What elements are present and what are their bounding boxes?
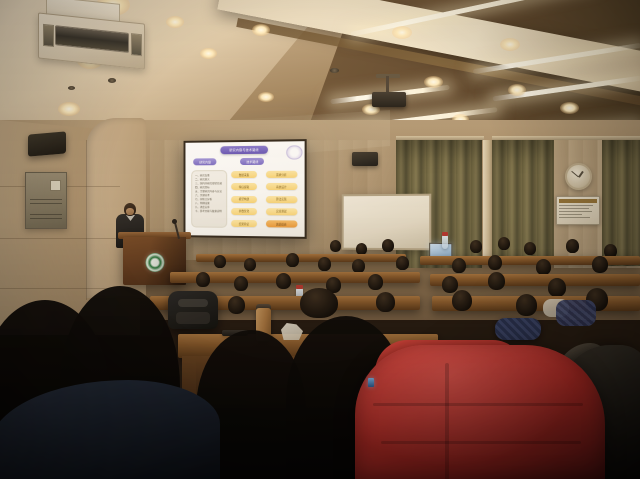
- list-item: 五、主要研究内容与方法: [195, 190, 223, 193]
- poster-text-line: [559, 208, 589, 209]
- panel-line: [30, 199, 62, 200]
- wall-clock-icon: [565, 163, 592, 190]
- slide-column-header-a: 研究内容: [194, 158, 217, 166]
- smartphone[interactable]: [368, 378, 374, 387]
- list-item: 十、参考文献与致谢说明: [195, 210, 223, 214]
- backpack: [168, 291, 218, 329]
- attendee-head: [330, 240, 341, 252]
- list-item: 二、研究意义: [195, 178, 223, 181]
- attendee-head: [524, 242, 536, 255]
- list-item: 四、研究目标: [195, 186, 223, 189]
- slide-pill: 结果验证: [231, 220, 257, 227]
- poster-text-line: [559, 205, 593, 206]
- desk-row: [196, 254, 406, 262]
- institution-logo-icon: [287, 145, 303, 160]
- attendee-head: [516, 294, 537, 316]
- slide-pill: 数据采集: [231, 171, 257, 178]
- smoke-detector-icon: [330, 68, 339, 73]
- attendee-head: [286, 253, 299, 267]
- downlight: [166, 16, 184, 28]
- attendee-head: [214, 255, 226, 268]
- attendee-head: [276, 273, 291, 289]
- downlight: [252, 24, 270, 36]
- attendee-head: [566, 239, 579, 253]
- electrical-panel: [25, 172, 67, 229]
- backpack-strap: [178, 299, 208, 307]
- slide-column-header-b: 技术路线: [240, 158, 264, 166]
- smoke-detector-icon: [108, 78, 116, 83]
- poster-text-line: [559, 214, 582, 215]
- list-item: 八、预期成果: [195, 202, 223, 205]
- tissue-paper: [281, 323, 303, 340]
- list-item: 七、创新点分析: [195, 198, 223, 201]
- projection-screen: 研究内容与技术路线 研究内容 技术路线 一、研究背景 二、研究意义 三、国内外研…: [184, 139, 307, 239]
- wall-speaker-icon: [28, 131, 66, 156]
- poster-text-line: [559, 217, 590, 218]
- smoke-detector-icon: [68, 86, 75, 90]
- slide-pill: 特征提取: [231, 183, 257, 190]
- poster-text-line: [559, 211, 592, 212]
- water-bottle: [442, 235, 448, 249]
- attendee-head: [452, 258, 466, 273]
- bottle-cap: [296, 285, 303, 289]
- attendee-head: [234, 276, 248, 291]
- slide-pill: 系统设计: [266, 183, 298, 190]
- list-item: 九、进度安排: [195, 206, 223, 209]
- list-item: 六、关键技术: [195, 194, 223, 197]
- wall-seam: [0, 238, 116, 239]
- wall-speaker-icon: [352, 152, 378, 166]
- attendee-head: [382, 239, 394, 252]
- attendee-head: [536, 259, 551, 275]
- downlight: [258, 92, 274, 102]
- knit-scarf: [495, 318, 541, 340]
- slide-pill-highlight: 总结结论: [266, 220, 298, 227]
- downlight: [392, 26, 412, 39]
- downlight: [424, 76, 443, 88]
- knit-scarf: [556, 300, 596, 326]
- slide-pill: 算法实现: [266, 196, 298, 203]
- jacket-seam: [381, 441, 581, 444]
- ac-vent: [131, 33, 142, 56]
- attendee-head: [488, 272, 505, 290]
- projector-icon: [372, 92, 406, 107]
- list-item: 一、研究背景: [195, 174, 223, 177]
- backpack-pocket: [176, 312, 210, 324]
- attendee-head: [396, 256, 409, 270]
- bottle-cap: [442, 232, 448, 236]
- wall-seam: [86, 140, 87, 300]
- panel-line: [30, 214, 62, 215]
- presentation-slide: 研究内容与技术路线 研究内容 技术路线 一、研究背景 二、研究意义 三、国内外研…: [185, 141, 304, 237]
- panel-line: [30, 203, 62, 204]
- wall-notice-poster: [556, 196, 600, 225]
- attendee-head: [452, 290, 472, 311]
- attendee-head: [488, 255, 502, 270]
- list-item: 三、国内外研究现状综述: [195, 182, 223, 185]
- downlight: [58, 102, 80, 116]
- downlight: [500, 38, 520, 51]
- presenter-face: [126, 208, 134, 215]
- jacket-seam: [445, 363, 449, 479]
- downlight: [508, 84, 526, 96]
- attendee-head: [470, 240, 482, 253]
- attendee-head: [318, 257, 331, 271]
- attendee-head: [196, 272, 210, 287]
- poster-header: [559, 199, 597, 203]
- panel-line: [30, 218, 62, 219]
- attendee-head: [368, 274, 383, 290]
- wall-pillar: [483, 140, 492, 265]
- attendee-head: [498, 237, 510, 250]
- downlight: [200, 48, 217, 59]
- slide-pill: 模型构建: [231, 196, 257, 203]
- attendee-head: [592, 256, 608, 273]
- downlight: [560, 102, 579, 114]
- red-puffer-jacket: [355, 345, 605, 479]
- ac-grille: [55, 25, 129, 53]
- attendee-head: [244, 258, 256, 271]
- attendee-head: [352, 259, 365, 273]
- microphone-icon: [172, 219, 177, 224]
- attendee-head: [376, 292, 395, 312]
- ac-vent: [43, 24, 54, 47]
- slide-pill: 参数优化: [231, 208, 257, 215]
- panel-label: [50, 180, 61, 191]
- lecture-hall-photo: 研究内容与技术路线 研究内容 技术路线 一、研究背景 二、研究意义 三、国内外研…: [0, 0, 640, 479]
- slide-pill: 实验测试: [266, 208, 298, 215]
- slide-title: 研究内容与技术路线: [220, 145, 268, 154]
- wall-seam: [0, 288, 110, 289]
- attendee-head: [228, 296, 245, 314]
- attendee-head: [442, 276, 458, 293]
- slide-pill: 需求分析: [266, 171, 298, 178]
- clock-minute-hand: [571, 171, 579, 178]
- slide-outline-list: 一、研究背景 二、研究意义 三、国内外研究现状综述 四、研究目标 五、主要研究内…: [191, 170, 227, 228]
- attendee-head: [548, 278, 566, 297]
- attendee-head: [300, 288, 338, 318]
- desk-row: [430, 274, 640, 286]
- jacket-seam: [373, 403, 583, 406]
